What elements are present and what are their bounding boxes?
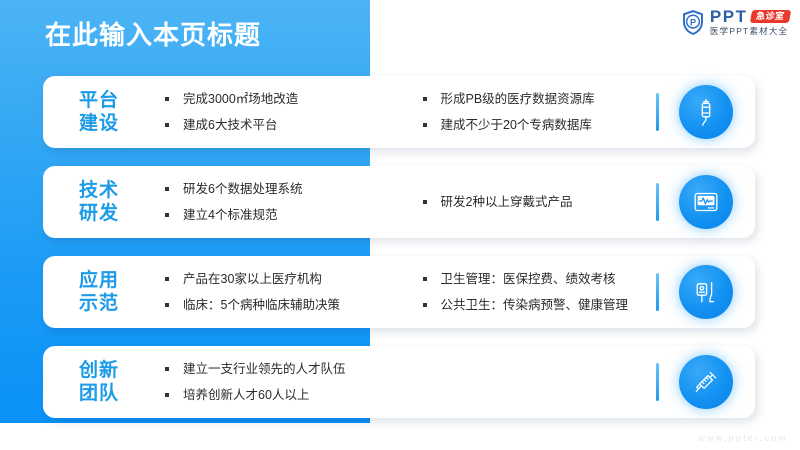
bullet-text: 研发2种以上穿戴式产品 (441, 194, 573, 210)
card-right-column (395, 346, 657, 418)
bullet-item: 建立一支行业领先的人才队伍 (165, 361, 395, 377)
card-endcap (656, 265, 755, 319)
bullet-dot-icon (423, 200, 427, 204)
bullet-dot-icon (165, 213, 169, 217)
bullet-item: 培养创新人才60人以上 (165, 387, 395, 403)
svg-text:P: P (690, 17, 696, 27)
bullet-item: 研发6个数据处理系统 (165, 181, 395, 197)
bullet-text: 形成PB级的医疗数据资源库 (441, 91, 595, 107)
bullet-text: 完成3000㎡场地改造 (183, 91, 298, 107)
card-category-label: 应用 示范 (43, 269, 133, 315)
bullet-item: 建成6大技术平台 (165, 117, 395, 133)
category-line-1: 应用 (65, 269, 133, 292)
bullet-text: 建成不少于20个专病数据库 (441, 117, 592, 133)
content-card-team[interactable]: 创新 团队 建立一支行业领先的人才队伍 培养创新人才60人以上 (43, 346, 755, 418)
bullet-dot-icon (423, 97, 427, 101)
iv-drip-icon (679, 85, 733, 139)
accent-divider-bar (656, 363, 659, 401)
card-right-column: 研发2种以上穿戴式产品 (395, 166, 657, 238)
card-right-column: 形成PB级的医疗数据资源库 建成不少于20个专病数据库 (395, 76, 657, 148)
bullet-dot-icon (165, 303, 169, 307)
ecg-monitor-icon (679, 175, 733, 229)
bullet-item: 建立4个标准规范 (165, 207, 395, 223)
card-right-column: 卫生管理：医保控费、绩效考核 公共卫生：传染病预警、健康管理 (395, 256, 657, 328)
brand-logo[interactable]: P PPT 急诊室 医学PPT素材大全 (681, 8, 790, 36)
category-line-1: 技术 (65, 179, 133, 202)
category-line-1: 平台 (65, 89, 133, 112)
shield-icon: P (681, 9, 705, 36)
card-columns: 建立一支行业领先的人才队伍 培养创新人才60人以上 (133, 346, 656, 418)
bullet-dot-icon (165, 187, 169, 191)
bullet-item: 完成3000㎡场地改造 (165, 91, 395, 107)
bullet-dot-icon (423, 303, 427, 307)
slide-canvas: 在此输入本页标题 P PPT 急诊室 医学PPT素材大全 平台 建设 (0, 0, 800, 450)
bullet-text: 建立4个标准规范 (183, 207, 277, 223)
bullet-item: 临床：5个病种临床辅助决策 (165, 297, 395, 313)
card-category-label: 技术 研发 (43, 179, 133, 225)
category-line-2: 团队 (65, 382, 133, 405)
bullet-text: 建立一支行业领先的人才队伍 (183, 361, 346, 377)
logo-subtitle: 医学PPT素材大全 (710, 26, 790, 36)
page-title: 在此输入本页标题 (45, 18, 261, 52)
bullet-item: 形成PB级的医疗数据资源库 (423, 91, 657, 107)
content-card-application[interactable]: 应用 示范 产品在30家以上医疗机构 临床：5个病种临床辅助决策 卫生管理：医保… (43, 256, 755, 328)
category-line-2: 建设 (65, 112, 133, 135)
bullet-item: 卫生管理：医保控费、绩效考核 (423, 271, 657, 287)
card-category-label: 创新 团队 (43, 359, 133, 405)
bullet-dot-icon (165, 393, 169, 397)
infusion-pump-icon (679, 265, 733, 319)
bullet-text: 建成6大技术平台 (183, 117, 277, 133)
card-category-label: 平台 建设 (43, 89, 133, 135)
card-left-column: 产品在30家以上医疗机构 临床：5个病种临床辅助决策 (133, 256, 395, 328)
bullet-dot-icon (165, 277, 169, 281)
content-card-rnd[interactable]: 技术 研发 研发6个数据处理系统 建立4个标准规范 研发2种以上穿戴式产品 (43, 166, 755, 238)
logo-badge: 急诊室 (750, 10, 791, 23)
category-line-2: 研发 (65, 202, 133, 225)
accent-divider-bar (656, 93, 659, 131)
card-left-column: 建立一支行业领先的人才队伍 培养创新人才60人以上 (133, 346, 395, 418)
logo-row-primary: PPT 急诊室 (710, 8, 790, 25)
card-left-column: 完成3000㎡场地改造 建成6大技术平台 (133, 76, 395, 148)
card-endcap (656, 175, 755, 229)
bullet-text: 公共卫生：传染病预警、健康管理 (441, 297, 629, 313)
bullet-dot-icon (165, 97, 169, 101)
logo-brand-text: PPT (710, 8, 748, 25)
bullet-text: 临床：5个病种临床辅助决策 (183, 297, 340, 313)
bullet-item: 建成不少于20个专病数据库 (423, 117, 657, 133)
card-endcap (656, 355, 755, 409)
card-columns: 完成3000㎡场地改造 建成6大技术平台 形成PB级的医疗数据资源库 建成不少于… (133, 76, 656, 148)
site-watermark: www.ppter.com (698, 433, 788, 443)
bullet-text: 研发6个数据处理系统 (183, 181, 302, 197)
accent-divider-bar (656, 183, 659, 221)
card-columns: 研发6个数据处理系统 建立4个标准规范 研发2种以上穿戴式产品 (133, 166, 656, 238)
bullet-text: 培养创新人才60人以上 (183, 387, 309, 403)
bullet-text: 卫生管理：医保控费、绩效考核 (441, 271, 616, 287)
bullet-dot-icon (165, 367, 169, 371)
bullet-text: 产品在30家以上医疗机构 (183, 271, 322, 287)
bullet-item: 研发2种以上穿戴式产品 (423, 194, 657, 210)
bullet-item: 公共卫生：传染病预警、健康管理 (423, 297, 657, 313)
accent-divider-bar (656, 273, 659, 311)
bullet-dot-icon (423, 277, 427, 281)
category-line-1: 创新 (65, 359, 133, 382)
bullet-item: 产品在30家以上医疗机构 (165, 271, 395, 287)
card-endcap (656, 85, 755, 139)
bullet-dot-icon (165, 123, 169, 127)
card-columns: 产品在30家以上医疗机构 临床：5个病种临床辅助决策 卫生管理：医保控费、绩效考… (133, 256, 656, 328)
syringe-icon (679, 355, 733, 409)
bullet-dot-icon (423, 123, 427, 127)
content-card-platform[interactable]: 平台 建设 完成3000㎡场地改造 建成6大技术平台 形成PB级的医疗数据资源库 (43, 76, 755, 148)
logo-text-block: PPT 急诊室 医学PPT素材大全 (710, 8, 790, 36)
category-line-2: 示范 (65, 292, 133, 315)
card-left-column: 研发6个数据处理系统 建立4个标准规范 (133, 166, 395, 238)
